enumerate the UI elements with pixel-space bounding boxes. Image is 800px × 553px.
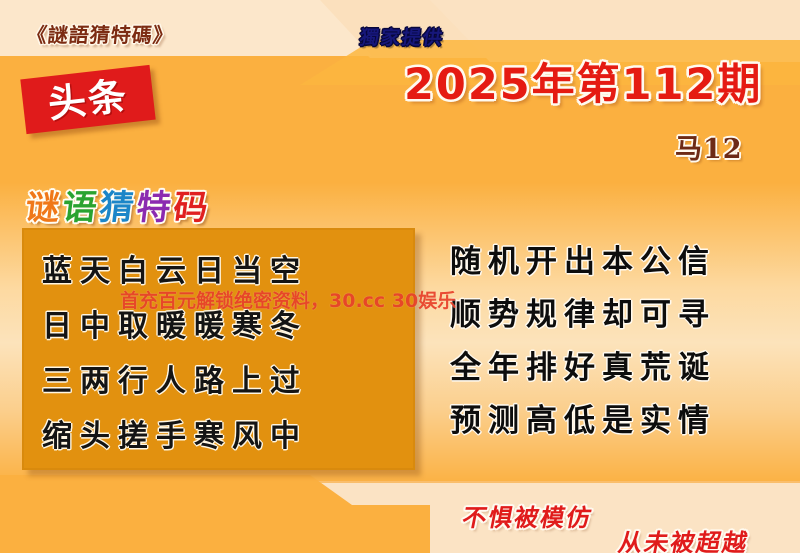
rainbow-section-title: 谜语猜特码 <box>23 180 214 229</box>
rainbow-title-char-2: 猜 <box>97 180 140 229</box>
headline-badge: 头条 <box>20 65 155 134</box>
rainbow-title-char-1: 语 <box>60 180 103 229</box>
rainbow-title-char-3: 特 <box>134 180 177 229</box>
riddle-line: 缩头搓手寒风中 <box>36 409 401 464</box>
verse-line: 顺势规律却可寻 <box>450 289 795 342</box>
verse-line: 预测高低是实情 <box>450 395 795 448</box>
traditional-title: 《謎語猜特碼》 <box>25 19 175 48</box>
riddle-line: 三两行人路上过 <box>36 354 401 409</box>
exclusive-label: 獨家提供 <box>358 23 446 50</box>
slogan-left: 不惧被模仿 <box>460 498 597 533</box>
poster-canvas: 《謎語猜特碼》 獨家提供 2025年第112期 马12 头条 谜语猜特码 蓝天白… <box>0 0 800 553</box>
issue-title: 2025年第112期 <box>404 50 762 112</box>
verse-block: 随机开出本公信 顺势规律却可寻 全年排好真荒诞 预测高低是实情 <box>450 236 795 448</box>
headline-badge-label: 头条 <box>46 76 130 123</box>
verse-line: 随机开出本公信 <box>450 236 795 289</box>
zodiac-number: 马12 <box>675 127 743 166</box>
rainbow-title-char-4: 码 <box>171 180 214 229</box>
rainbow-title-char-0: 谜 <box>23 180 66 229</box>
watermark-text: 首充百元解锁绝密资料，30.cc 30娱乐 <box>120 286 456 313</box>
riddle-box: 蓝天白云日当空 日中取暖暖寒冬 三两行人路上过 缩头搓手寒风中 <box>22 228 415 470</box>
verse-line: 全年排好真荒诞 <box>450 342 795 395</box>
slogan-right: 从未被超越 <box>616 523 753 553</box>
